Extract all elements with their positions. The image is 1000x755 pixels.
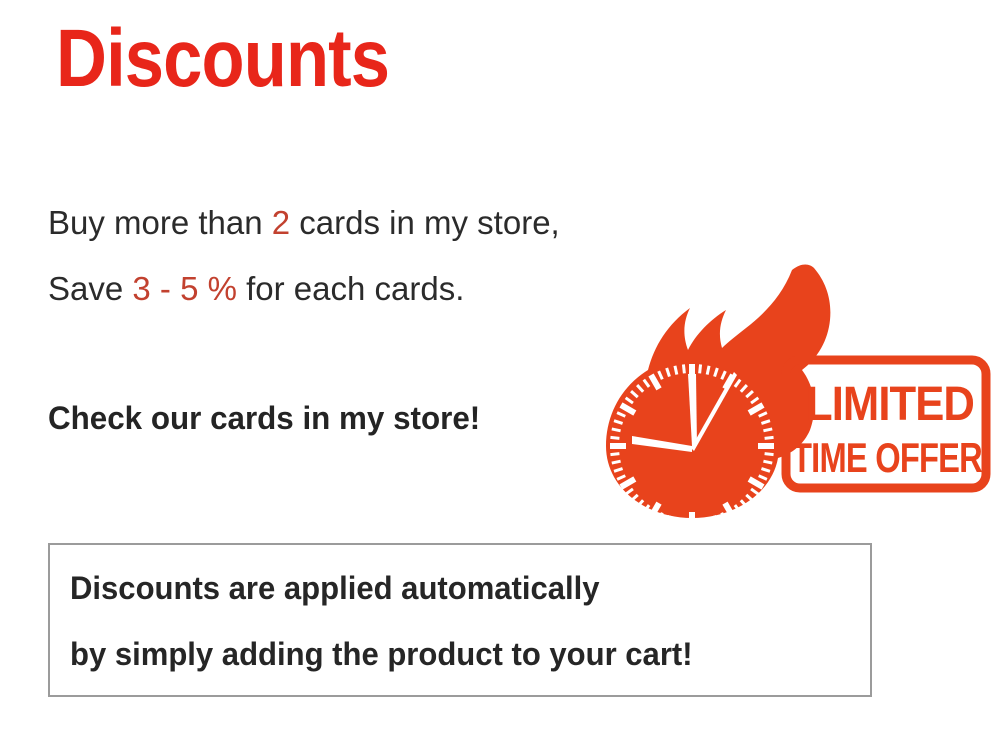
offer-line-savings: Save 3 - 5 % for each cards. [48,272,464,305]
offer-line1-suffix: cards in my store, [290,204,560,241]
store-call-to-action: Check our cards in my store! [48,402,480,434]
notice-line-2: by simply adding the product to your car… [70,638,693,670]
offer-min-quantity: 2 [272,204,290,241]
page-title: Discounts [56,18,389,100]
promo-banner: Discounts Buy more than 2 cards in my st… [0,0,1000,755]
badge-line-1: LIMITED [806,378,974,431]
auto-discount-notice: Discounts are applied automatically by s… [48,543,872,697]
limited-time-offer-badge: LIMITED TIME OFFER [596,262,996,522]
offer-discount-range: 3 - 5 % [132,270,237,307]
offer-line-threshold: Buy more than 2 cards in my store, [48,206,560,239]
notice-line-1: Discounts are applied automatically [70,572,600,604]
offer-line2-prefix: Save [48,270,132,307]
badge-line-2: TIME OFFER [792,434,983,481]
offer-line2-suffix: for each cards. [237,270,464,307]
offer-line1-prefix: Buy more than [48,204,272,241]
